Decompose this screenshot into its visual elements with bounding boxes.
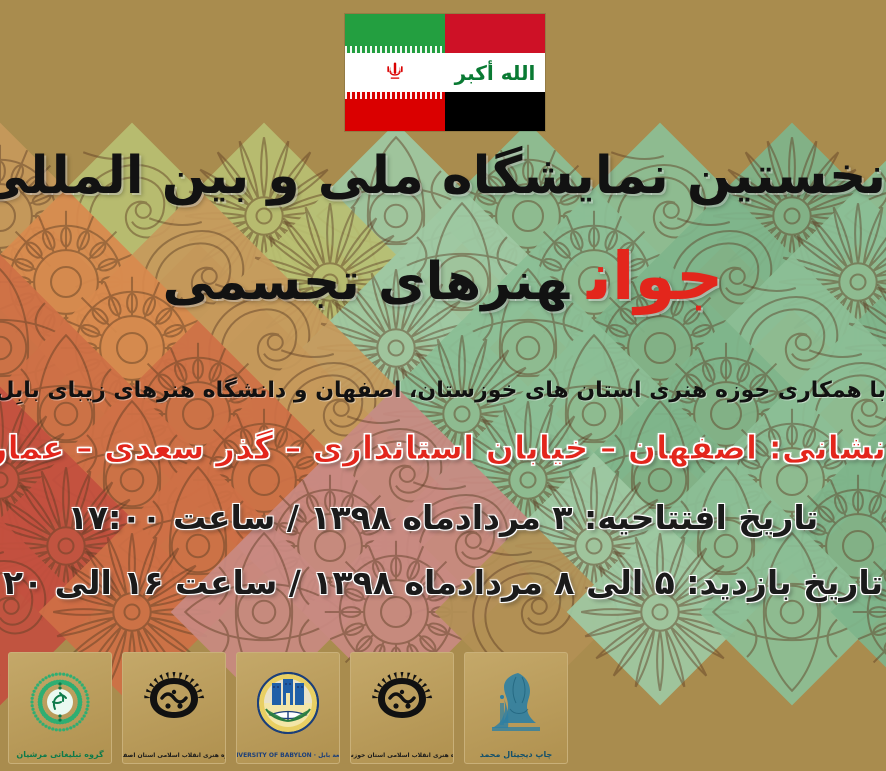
diamond-ornament-icon xyxy=(170,386,357,573)
morshian-burst-icon xyxy=(9,653,111,751)
diamond-ornament-icon xyxy=(566,386,753,573)
sponsor-logo-caption: گروه تبلیغاتی مرشیان xyxy=(16,751,103,759)
title-line-2-text: هنرهای تجسمی xyxy=(163,252,570,312)
background-diamond-tile xyxy=(237,321,424,508)
background-diamond-tile xyxy=(435,387,622,574)
sponsor-logo-chap-digital-mohammad[interactable]: چاپ دیجیتال محمد xyxy=(464,652,568,764)
visit-date-line: تاریخ بازدید: ۵ الی ۸ مردادماه ۱۳۹۸ / سا… xyxy=(0,563,886,602)
background-diamond-tile xyxy=(501,321,688,508)
iraq-flag-half: الله أكبر xyxy=(445,14,545,131)
background-diamond-tile xyxy=(237,453,424,640)
diamond-ornament-icon xyxy=(764,320,886,507)
title-highlight-young: جوان xyxy=(569,238,723,315)
background-diamond-tile xyxy=(369,453,556,640)
poster-canvas: الله أكبر نخستین نمایشگاه مل xyxy=(0,0,886,771)
background-diamond-tile xyxy=(765,321,886,508)
iran-emblem-icon xyxy=(382,60,408,86)
diamond-ornament-icon xyxy=(698,518,885,705)
background-diamond-tile xyxy=(105,453,292,640)
diamond-ornament-icon xyxy=(368,452,555,639)
background-diamond-tile xyxy=(501,453,688,640)
background-diamond-tile xyxy=(567,387,754,574)
sponsor-logo-hozeh-honari-isfahan[interactable]: حوزه هنری انقلاب اسلامی استان اصفهان xyxy=(122,652,226,764)
background-diamond-tile xyxy=(171,387,358,574)
diamond-ornament-icon xyxy=(236,320,423,507)
diamond-ornament-icon xyxy=(566,518,753,705)
page-title-line-1: نخستین نمایشگاه ملی و بین المللی xyxy=(0,146,886,206)
page-title-line-2: جوانهنرهای تجسمی xyxy=(0,238,886,315)
diamond-ornament-icon xyxy=(368,320,555,507)
background-diamond-tile xyxy=(39,387,226,574)
diamond-ornament-icon xyxy=(632,452,819,639)
diamond-ornament-icon xyxy=(38,386,225,573)
diamond-ornament-icon xyxy=(830,518,886,705)
background-diamond-tile xyxy=(0,453,159,640)
sponsor-logo-hozeh-honari-khuzestan[interactable]: حوزه هنری انقلاب اسلامی استان خوزستان xyxy=(350,652,454,764)
background-diamond-tile xyxy=(699,387,886,574)
iran-flag-half xyxy=(345,14,445,131)
background-diamond-tile xyxy=(567,519,754,706)
diamond-ornament-icon xyxy=(500,320,687,507)
address-line: نشانی: اصفهان – خیابان استانداری – گذر س… xyxy=(0,428,886,467)
diamond-ornament-icon xyxy=(632,320,819,507)
background-diamond-tile xyxy=(831,519,886,706)
background-diamond-tile xyxy=(0,387,93,574)
iran-kufic-band-top xyxy=(345,46,445,53)
diamond-ornament-icon xyxy=(698,386,885,573)
sponsor-logo-caption: جامعة بابل · UNIVERSITY OF BABYLON xyxy=(236,753,340,759)
diamond-ornament-icon xyxy=(0,386,94,573)
sponsor-logo-morshian-advertising-group[interactable]: گروه تبلیغاتی مرشیان xyxy=(8,652,112,764)
diamond-ornament-icon xyxy=(500,452,687,639)
background-diamond-tile xyxy=(105,321,292,508)
background-diamond-tile xyxy=(765,453,886,640)
background-diamond-tile xyxy=(0,321,159,508)
background-diamond-tile xyxy=(633,453,820,640)
iran-kufic-band-bottom xyxy=(345,92,445,99)
takbir-inscription: الله أكبر xyxy=(455,61,536,85)
sponsor-logo-caption: چاپ دیجیتال محمد xyxy=(480,751,552,759)
sponsor-logo-caption: حوزه هنری انقلاب اسلامی استان اصفهان xyxy=(122,753,226,759)
diamond-ornament-icon xyxy=(434,386,621,573)
sponsor-logo-caption: حوزه هنری انقلاب اسلامی استان خوزستان xyxy=(350,753,454,759)
background-diamond-tile xyxy=(699,519,886,706)
diamond-ornament-icon xyxy=(830,386,886,573)
hozeh-honari-icon xyxy=(123,653,225,753)
background-diamond-tile xyxy=(303,387,490,574)
iraq-black-band xyxy=(445,92,545,131)
background-diamond-tile xyxy=(831,387,886,574)
iraq-red-band xyxy=(445,14,545,53)
background-diamond-tile xyxy=(369,321,556,508)
sponsor-logo-strip: چاپ دیجیتال محمدحوزه هنری انقلاب اسلامی … xyxy=(8,652,568,764)
university-seal-icon xyxy=(237,653,339,753)
diamond-ornament-icon xyxy=(302,386,489,573)
diamond-ornament-icon xyxy=(104,452,291,639)
hozeh-honari-icon xyxy=(351,653,453,753)
sponsor-logo-university-of-babylon[interactable]: جامعة بابل · UNIVERSITY OF BABYLON xyxy=(236,652,340,764)
iraq-iran-flag: الله أكبر xyxy=(345,14,545,131)
diamond-ornament-icon xyxy=(0,320,160,507)
diamond-ornament-icon xyxy=(0,452,160,639)
rock-figure-icon xyxy=(465,653,567,751)
diamond-ornament-icon xyxy=(104,320,291,507)
collaboration-line: با همکاری حوزه هنری استان های خوزستان، ا… xyxy=(0,378,886,403)
diamond-ornament-icon xyxy=(764,452,886,639)
diamond-ornament-icon xyxy=(236,452,423,639)
opening-date-line: تاریخ افتتاحیه: ۳ مردادماه ۱۳۹۸ / ساعت ۱… xyxy=(0,498,886,537)
background-diamond-tile xyxy=(633,321,820,508)
